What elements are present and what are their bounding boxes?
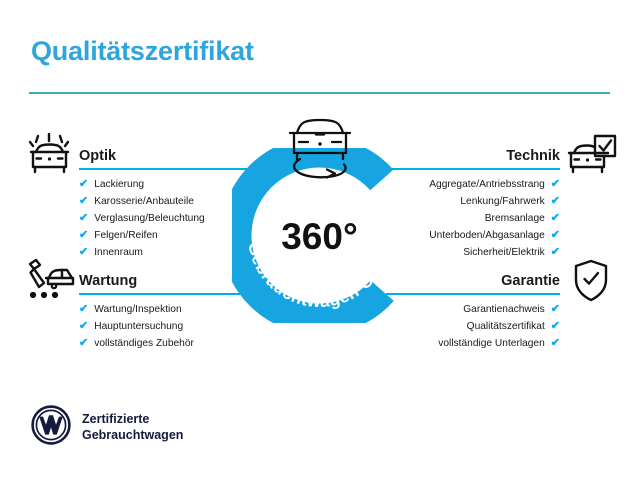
list-item: ✔Felgen/Reifen — [79, 227, 205, 244]
list-item-label: Unterboden/Abgasanlage — [429, 230, 545, 241]
section-divider — [386, 293, 560, 295]
footer-text: Zertifizierte Gebrauchtwagen — [82, 412, 183, 443]
list-item-label: Lackierung — [94, 179, 144, 190]
list-item-label: Wartung/Inspektion — [94, 304, 181, 315]
list-item-label: Karosserie/Anbauteile — [94, 196, 194, 207]
check-icon: ✔ — [79, 247, 88, 258]
section-header: Technik — [386, 138, 560, 168]
badge-center-label: 360° — [281, 216, 358, 257]
check-icon: ✔ — [79, 338, 88, 349]
section-title: Wartung — [79, 273, 137, 289]
list-item: ✔Aggregate/Antriebsstrang — [429, 176, 560, 193]
footer-line-2: Gebrauchtwagen — [82, 428, 183, 443]
list-item-label: Qualitätszertifikat — [467, 321, 545, 332]
shield-check-icon — [571, 258, 611, 309]
section-technik: Technik ✔Aggregate/Antriebsstrang ✔Lenku… — [386, 138, 560, 168]
list-item: ✔vollständige Unterlagen — [438, 335, 560, 352]
list-item-label: Verglasung/Beleuchtung — [94, 213, 204, 224]
section-wartung: Wartung ✔Wartung/Inspektion ✔Hauptunters… — [79, 263, 249, 293]
list-item-label: vollständiges Zubehör — [94, 338, 194, 349]
list-item-label: Aggregate/Antriebsstrang — [429, 179, 545, 190]
section-garantie: Garantie ✔Garantienachweis ✔Qualitätszer… — [386, 263, 560, 293]
section-header: Wartung — [79, 263, 249, 293]
section-header: Optik — [79, 138, 249, 168]
wrench-car-icon — [24, 258, 80, 309]
list-item: ✔Innenraum — [79, 244, 205, 261]
section-optik: Optik ✔Lackierung ✔Karosserie/Anbauteile… — [79, 138, 249, 168]
footer-line-1: Zertifizierte — [82, 412, 183, 427]
list-item: ✔Wartung/Inspektion — [79, 301, 194, 318]
check-icon: ✔ — [551, 213, 560, 224]
section-divider — [79, 168, 249, 170]
section-title: Garantie — [501, 273, 560, 289]
checklist-technik: ✔Aggregate/Antriebsstrang ✔Lenkung/Fahrw… — [429, 176, 560, 261]
check-icon: ✔ — [551, 179, 560, 190]
list-item-label: Bremsanlage — [485, 213, 545, 224]
check-icon: ✔ — [551, 304, 560, 315]
list-item-label: vollständige Unterlagen — [438, 338, 544, 349]
list-item: ✔Lenkung/Fahrwerk — [429, 193, 560, 210]
header-divider — [29, 92, 610, 94]
list-item: ✔Karosserie/Anbauteile — [79, 193, 205, 210]
list-item-label: Garantienachweis — [463, 304, 545, 315]
check-icon: ✔ — [551, 338, 560, 349]
checklist-garantie: ✔Garantienachweis ✔Qualitätszertifikat ✔… — [438, 301, 560, 352]
list-item-label: Hauptuntersuchung — [94, 321, 183, 332]
list-item-label: Innenraum — [94, 247, 143, 258]
checklist-optik: ✔Lackierung ✔Karosserie/Anbauteile ✔Verg… — [79, 176, 205, 261]
page-title: Qualitätszertifikat — [31, 36, 254, 67]
car-checkbox-icon — [563, 133, 619, 184]
section-title: Technik — [506, 148, 560, 164]
list-item: ✔Verglasung/Beleuchtung — [79, 210, 205, 227]
check-icon: ✔ — [79, 230, 88, 241]
check-icon: ✔ — [551, 230, 560, 241]
check-icon: ✔ — [79, 179, 88, 190]
list-item: ✔Sicherheit/Elektrik — [429, 244, 560, 261]
vw-lockup: Zertifizierte Gebrauchtwagen — [31, 405, 183, 450]
car-shine-icon — [24, 133, 76, 184]
list-item: ✔Garantienachweis — [438, 301, 560, 318]
section-header: Garantie — [386, 263, 560, 293]
check-icon: ✔ — [79, 321, 88, 332]
list-item: ✔Unterboden/Abgasanlage — [429, 227, 560, 244]
check-icon: ✔ — [79, 213, 88, 224]
car-rotation-icon — [274, 115, 366, 186]
list-item: ✔Lackierung — [79, 176, 205, 193]
check-icon: ✔ — [551, 321, 560, 332]
section-divider — [79, 293, 249, 295]
vw-logo — [31, 405, 71, 450]
check-icon: ✔ — [79, 304, 88, 315]
check-icon: ✔ — [551, 196, 560, 207]
check-icon: ✔ — [79, 196, 88, 207]
list-item-label: Lenkung/Fahrwerk — [460, 196, 544, 207]
list-item-label: Sicherheit/Elektrik — [463, 247, 545, 258]
list-item: ✔vollständiges Zubehör — [79, 335, 194, 352]
section-divider — [386, 168, 560, 170]
badge-360-gebrauchtwagen-check: Gebrauchtwagen-Check 360° — [232, 148, 407, 323]
section-title: Optik — [79, 148, 116, 164]
checklist-wartung: ✔Wartung/Inspektion ✔Hauptuntersuchung ✔… — [79, 301, 194, 352]
check-icon: ✔ — [551, 247, 560, 258]
list-item: ✔Bremsanlage — [429, 210, 560, 227]
list-item: ✔Hauptuntersuchung — [79, 318, 194, 335]
list-item-label: Felgen/Reifen — [94, 230, 157, 241]
certificate-page: Qualitätszertifikat — [0, 0, 639, 479]
list-item: ✔Qualitätszertifikat — [438, 318, 560, 335]
